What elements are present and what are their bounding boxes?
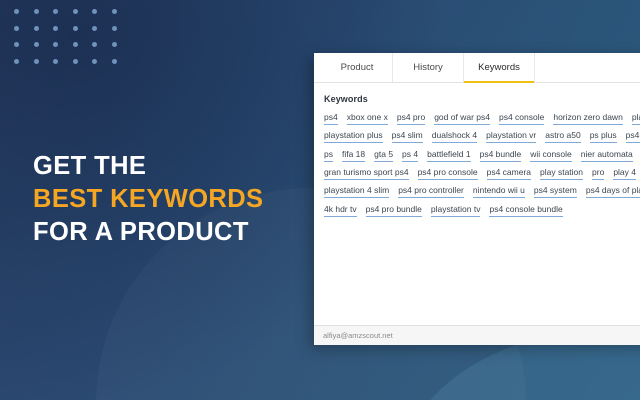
keyword-chip[interactable]: playstation vr [486, 131, 536, 143]
keyword-chip[interactable]: god of war ps4 [434, 113, 490, 125]
headline-line-2: BEST KEYWORDS [33, 183, 263, 216]
dot-icon [112, 26, 117, 31]
dot-icon [53, 42, 58, 47]
dot-icon [34, 9, 39, 14]
keyword-chip[interactable]: nier automata [581, 150, 633, 162]
keyword-row: ps fifa 18 gta 5 ps 4 battlefield 1 ps4 … [324, 150, 640, 162]
keyword-chip[interactable]: ps4 camera [487, 168, 531, 180]
dot-icon [92, 26, 97, 31]
keyword-row: playstation plus ps4 slim dualshock 4 pl… [324, 131, 640, 143]
dot-icon [14, 59, 19, 64]
dot-icon [34, 42, 39, 47]
keyword-chip[interactable]: xbox one x [347, 113, 388, 125]
keyword-chip[interactable]: ps4 console [499, 113, 544, 125]
keyword-chip[interactable]: ps4 vr [626, 131, 640, 143]
keyword-chip[interactable]: ps4 pro [397, 113, 425, 125]
keyword-chip[interactable]: playstation 4 [632, 113, 640, 125]
dot-icon [53, 59, 58, 64]
dot-icon [112, 9, 117, 14]
promo-headline: GET THE BEST KEYWORDS FOR A PRODUCT [33, 150, 263, 249]
keyword-chip[interactable]: gran turismo sport ps4 [324, 168, 409, 180]
keyword-chip[interactable]: wii console [530, 150, 572, 162]
keyword-chip[interactable]: astro a50 [545, 131, 580, 143]
keyword-chip[interactable]: ps [324, 150, 333, 162]
keyword-chip[interactable]: ps4 console bundle [489, 205, 562, 217]
promo-banner: GET THE BEST KEYWORDS FOR A PRODUCT Prod… [0, 0, 640, 400]
decorative-dot-grid [14, 9, 131, 75]
account-email[interactable]: alfiya@amzscout.net [323, 331, 393, 340]
headline-line-1: GET THE [33, 150, 263, 183]
keyword-chip[interactable]: ps4 pro console [418, 168, 478, 180]
dot-icon [14, 9, 19, 14]
keyword-chip[interactable]: ps4 bundle [480, 150, 522, 162]
dot-icon [73, 9, 78, 14]
dot-icon [34, 26, 39, 31]
tab-history[interactable]: History [393, 53, 464, 82]
dot-icon [112, 42, 117, 47]
dot-icon [14, 26, 19, 31]
dot-icon [92, 42, 97, 47]
keyword-chip[interactable]: ps4 system [534, 186, 577, 198]
keyword-row: ps4 xbox one x ps4 pro god of war ps4 ps… [324, 113, 640, 125]
dot-icon [73, 59, 78, 64]
keyword-chip[interactable]: playstation plus [324, 131, 383, 143]
keyword-chip[interactable]: play station [540, 168, 583, 180]
keyword-chip[interactable]: 4k hdr tv [324, 205, 357, 217]
dot-icon [112, 59, 117, 64]
keyword-chip[interactable]: ps plus [590, 131, 617, 143]
keyword-chip[interactable]: playstation 4 slim [324, 186, 389, 198]
panel-footer: alfiya@amzscout.net Pow [314, 325, 640, 345]
keyword-chip[interactable]: ps4 pro bundle [366, 205, 422, 217]
keyword-chip[interactable]: playstation tv [431, 205, 481, 217]
keyword-chip[interactable]: ps4 [324, 113, 338, 125]
tab-product[interactable]: Product [322, 53, 393, 82]
tab-bar-filler [535, 53, 640, 82]
dot-icon [73, 42, 78, 47]
keyword-chip[interactable]: battlefield 1 [427, 150, 470, 162]
keyword-chip[interactable]: ps4 days of play [586, 186, 640, 198]
tab-keywords[interactable]: Keywords [464, 53, 535, 82]
tab-bar: Product History Keywords [314, 53, 640, 83]
keywords-panel-body: Keywords ps4 xbox one x ps4 pro god of w… [314, 83, 640, 325]
dot-icon [14, 42, 19, 47]
dot-icon [53, 9, 58, 14]
keyword-row: gran turismo sport ps4 ps4 pro console p… [324, 168, 640, 180]
keyword-row: playstation 4 slim ps4 pro controller ni… [324, 186, 640, 198]
headline-line-3: FOR A PRODUCT [33, 216, 263, 249]
dot-icon [92, 9, 97, 14]
section-title-keywords: Keywords [324, 94, 640, 104]
keyword-chip[interactable]: fifa 18 [342, 150, 365, 162]
keyword-row: 4k hdr tv ps4 pro bundle playstation tv … [324, 205, 640, 217]
keyword-chip[interactable]: horizon zero dawn [553, 113, 622, 125]
keyword-chip[interactable]: ps 4 [402, 150, 418, 162]
keyword-chip[interactable]: nintendo wii u [473, 186, 525, 198]
keyword-list: ps4 xbox one x ps4 pro god of war ps4 ps… [324, 113, 640, 217]
keyword-chip[interactable]: pro [592, 168, 604, 180]
dot-icon [73, 26, 78, 31]
dot-icon [53, 26, 58, 31]
keyword-chip[interactable]: dualshock 4 [432, 131, 477, 143]
keyword-chip[interactable]: ps4 pro controller [398, 186, 464, 198]
dot-icon [92, 59, 97, 64]
dot-icon [34, 59, 39, 64]
keyword-chip[interactable]: play 4 [613, 168, 636, 180]
keyword-chip[interactable]: gta 5 [374, 150, 393, 162]
app-window: Product History Keywords Keywords ps4 xb… [314, 53, 640, 345]
keyword-chip[interactable]: ps4 slim [392, 131, 423, 143]
